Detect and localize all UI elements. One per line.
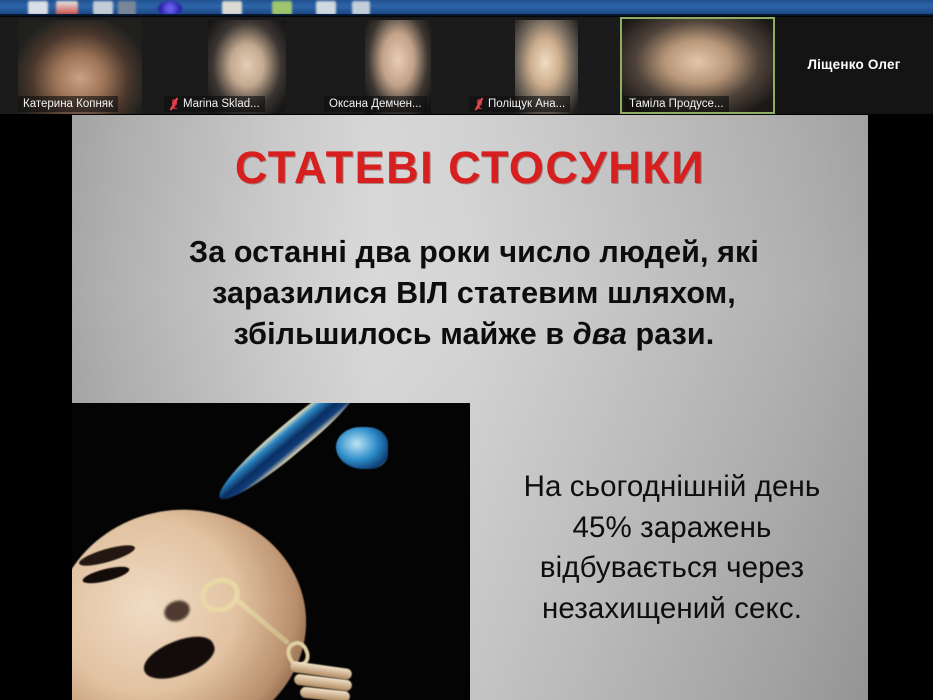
slide-title: СТАТЕВІ СТОСУНКИ bbox=[72, 142, 868, 194]
participant-tile-5[interactable]: Ліщенко Олег bbox=[775, 17, 933, 114]
mic-muted-icon bbox=[474, 98, 484, 111]
taskbar-icon-4[interactable] bbox=[118, 1, 136, 15]
taskbar-icon-3[interactable] bbox=[93, 1, 113, 15]
slide-body-line-3-post: рази. bbox=[627, 317, 714, 351]
shared-slide[interactable]: СТАТЕВІ СТОСУНКИ За останні два роки чис… bbox=[72, 115, 868, 700]
slide-body-line-3: збільшилось майже в два рази. bbox=[120, 314, 828, 355]
slide-secondary-text: На сьогоднішній день 45% заражень відбув… bbox=[490, 467, 854, 630]
participant-name-bar: Marina Sklad... bbox=[164, 96, 265, 112]
taskbar-icon-6[interactable] bbox=[222, 1, 242, 15]
participant-tile-3[interactable]: Поліщук Ана... bbox=[465, 17, 620, 114]
participant-name: Ліщенко Олег bbox=[775, 57, 933, 72]
slide-body-emphasis: два bbox=[573, 317, 627, 351]
slide-body-line-2: заразилися ВІЛ статевим шляхом, bbox=[120, 273, 828, 314]
slide-body2-line-2: 45% заражень bbox=[490, 508, 854, 549]
taskbar-icon-2[interactable] bbox=[56, 1, 78, 15]
participant-tile-0[interactable]: Катерина Копняк bbox=[0, 17, 160, 114]
participant-name: Оксана Демчен... bbox=[329, 96, 422, 112]
participant-name: Катерина Копняк bbox=[23, 96, 113, 112]
mic-muted-icon bbox=[169, 98, 179, 111]
slide-photo bbox=[72, 403, 470, 700]
slide-body-line-1: За останні два роки число людей, які bbox=[120, 232, 828, 273]
letterbox-right bbox=[868, 114, 933, 700]
photo-hand bbox=[290, 661, 386, 700]
slide-body-line-3-pre: збільшилось майже в bbox=[234, 317, 573, 351]
participant-filmstrip: Катерина Копняк Marina Sklad... Оксана Д… bbox=[0, 17, 933, 114]
taskbar-icon-1[interactable] bbox=[28, 1, 48, 15]
participant-name-bar: Оксана Демчен... bbox=[324, 96, 427, 112]
participant-name: Поліщук Ана... bbox=[488, 96, 565, 112]
slide-body-text: За останні два роки число людей, які зар… bbox=[120, 232, 828, 355]
taskbar-icon-5[interactable] bbox=[158, 1, 182, 16]
participant-name-bar: Таміла Продусе... bbox=[624, 96, 729, 112]
taskbar-icon-7[interactable] bbox=[272, 1, 292, 15]
os-taskbar-strip[interactable] bbox=[0, 0, 933, 17]
letterbox-left bbox=[0, 114, 72, 700]
participant-tile-1[interactable]: Marina Sklad... bbox=[160, 17, 310, 114]
taskbar-icon-9[interactable] bbox=[352, 1, 370, 15]
participant-name-bar: Катерина Копняк bbox=[18, 96, 118, 112]
slide-body2-line-3: відбувається через bbox=[490, 548, 854, 589]
photo-bubble-stream bbox=[218, 425, 376, 573]
screen-root: Катерина Копняк Marina Sklad... Оксана Д… bbox=[0, 0, 933, 700]
slide-body2-line-4: незахищений секс. bbox=[490, 589, 854, 630]
participant-name: Таміла Продусе... bbox=[629, 96, 724, 112]
taskbar-icon-8[interactable] bbox=[316, 1, 336, 15]
participant-name: Marina Sklad... bbox=[183, 96, 260, 112]
participant-name-bar: Поліщук Ана... bbox=[469, 96, 570, 112]
slide-body2-line-1: На сьогоднішній день bbox=[490, 467, 854, 508]
participant-tile-2[interactable]: Оксана Демчен... bbox=[310, 17, 465, 114]
participant-tile-4[interactable]: Таміла Продусе... bbox=[620, 17, 775, 114]
